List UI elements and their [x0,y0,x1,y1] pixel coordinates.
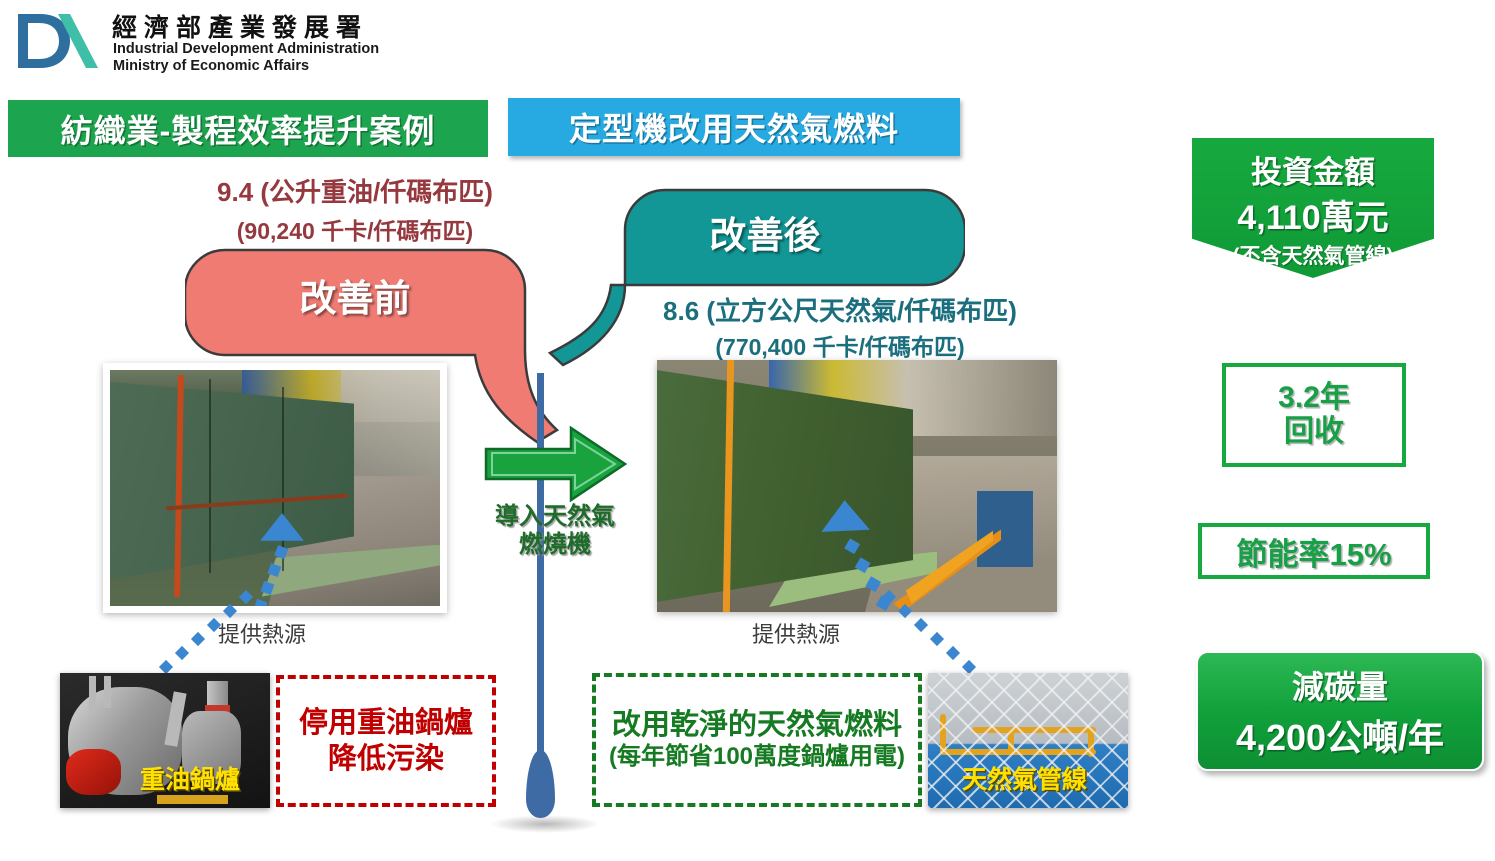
metric-payback-line2: 回收 [1284,415,1344,449]
metric-investment-title: 投資金額 [1251,147,1375,192]
after-callout-line1: 改用乾淨的天然氣燃料 [612,708,902,743]
agency-name-cn: 經濟部產業發展署 [112,8,368,44]
metric-investment-badge: 投資金額 4,110萬元 (不含天然氣管線) [1192,138,1434,278]
industry-case-title-text: 紡織業-製程效率提升案例 [61,106,436,152]
topic-title-bar: 定型機改用天然氣燃料 [508,98,960,156]
after-callout-box: 改用乾淨的天然氣燃料 (每年節省100萬度鍋爐用電) [592,673,922,807]
metric-carbon-reduction-box: 減碳量 4,200公噸/年 [1196,651,1484,771]
before-callout-box: 停用重油鍋爐 降低污染 [276,675,496,807]
ida-logo [10,8,102,74]
after-value-main: 8.6 (立方公尺天然氣/仟碼布匹) [560,291,1120,328]
before-value-main: 9.4 (公升重油/仟碼布匹) [120,172,590,209]
gas-pipeline-photo-label: 天然氣管線 [962,760,1087,796]
before-value-sub: (90,240 千卡/仟碼布匹) [120,212,590,246]
industry-case-title-bar: 紡織業-製程效率提升案例 [8,100,488,157]
after-photo-caption: 提供熱源 [752,617,840,649]
metric-energy-saving-text: 節能率15% [1236,529,1391,574]
transform-label-line2: 燃燒機 [455,531,655,559]
after-callout-line2: (每年節省100萬度鍋爐用電) [609,742,905,772]
after-value-sub: (770,400 千卡/仟碼布匹) [560,328,1120,362]
agency-name-en-line2: Ministry of Economic Affairs [113,58,309,74]
center-divider-pin-icon [526,750,555,818]
metric-carbon-title: 減碳量 [1292,662,1388,708]
after-banner-label: 改善後 [640,205,890,259]
metric-investment-note: (不含天然氣管線) [1233,240,1394,270]
transform-label-line1: 導入天然氣 [455,503,655,531]
metric-payback-line1: 3.2年 [1278,381,1350,415]
metric-carbon-value: 4,200公噸/年 [1236,709,1444,761]
metric-energy-saving-box: 節能率15% [1198,523,1430,579]
metric-investment-value: 4,110萬元 [1237,190,1388,239]
metric-payback-box: 3.2年 回收 [1222,363,1406,467]
before-connector-dotted-line [145,590,265,680]
center-divider-shadow [490,815,600,833]
boiler-photo-label: 重油鍋爐 [140,760,240,796]
before-callout-line1: 停用重油鍋爐 [299,705,473,741]
right-arrow-icon [483,425,628,503]
after-connector-dotted-line [870,590,990,680]
agency-name-en-line1: Industrial Development Administration [113,41,379,57]
before-photo [110,370,440,606]
after-photo-frame [657,360,1057,612]
after-photo [657,360,1057,612]
before-photo-frame [103,363,447,613]
before-callout-line2: 降低污染 [328,741,444,777]
topic-title-text: 定型機改用天然氣燃料 [569,104,899,150]
transform-label: 導入天然氣 燃燒機 [455,503,655,558]
before-banner-label: 改善前 [200,268,510,322]
